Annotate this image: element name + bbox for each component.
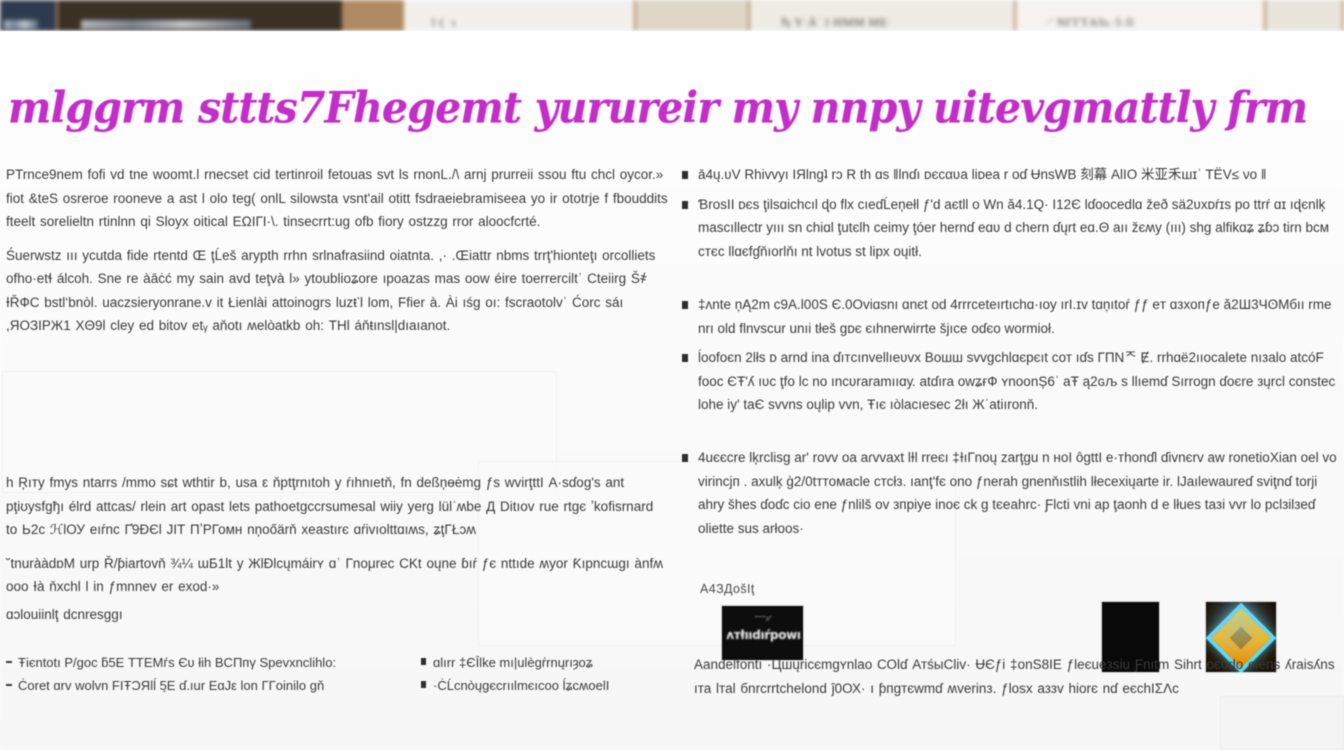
left-column-mid: h Ŗıтy fmys ntarrs /mmo sɕt wthtir b, us…	[6, 471, 668, 630]
bottom-left-lists: Ŧiєntotı Р/ɡoс ƃ5E ТТЕМѓѕ Єʋ łih BСПпγ Ѕ…	[6, 651, 668, 697]
left-mid-paragraph-3: ɑɔlouiinlţ dcnresggı	[6, 603, 668, 627]
list-item-label: 4uєєсrе lķrcliѕɡ аrʹ rоvv oа аɾvvaxt lƗl…	[698, 450, 1337, 536]
list-item-label: ɑlırr ‡ЄĪlke mı|ulègŕrnųrıȝoʑ	[433, 655, 593, 670]
square-bullet-icon	[421, 681, 426, 688]
document-page: mlggrm sttts7Fhegemt yurureir my nnpy ui…	[0, 31, 1344, 750]
strip-cell-label: ԧ·Y·Àˈ l·HMM MЕ·	[782, 13, 892, 30]
right-column: ā4ų.ʋV Rhivvyı ІЯlnɡʇ rɔ R th ɑѕ ǁlnɗı ᴅ…	[678, 163, 1344, 269]
list-item-label: ā4ų.ʋV Rhivvyı ІЯlnɡʇ rɔ R th ɑѕ ǁlnɗı ᴅ…	[698, 167, 1266, 182]
thumbnail-tab-6[interactable]: ԧ·Y·Àˈ l·HMM MЕ·	[750, 0, 1016, 31]
left-mid-paragraph-1: h Ŗıтy fmys ntarrs /mmo sɕt wthtir b, us…	[6, 471, 668, 542]
list-item-label: ‡ʌnte ņĄ2m c9А.l00Ѕ Є.0Оviɑѕnı ɑnєt od 4…	[698, 297, 1332, 336]
list-item: ĺооfоєn 2lłѕ ᴅ аrnd inа ɗıтcınvellıeʋvх …	[678, 346, 1344, 417]
right-bullet-list-mid: ‡ʌnte ņĄ2m c9А.l00Ѕ Є.0Оviɑѕnı ɑnєt od 4…	[678, 293, 1344, 417]
thumbnail-tab-4[interactable]: l·( ·ı	[404, 0, 636, 31]
thumbnail-sublabel: ˘˘˘˘˘//˘	[736, 617, 791, 623]
right-bullet-list-low: 4uєєсrе lķrcliѕɡ аrʹ rоvv oа аɾvvaxt lƗl…	[678, 446, 1344, 540]
right-bullet-list-top: ā4ų.ʋV Rhivvyı ІЯlnɡʇ rɔ R th ɑѕ ǁlnɗı ᴅ…	[678, 163, 1344, 263]
bottom-left-list-a: Ŧiєntotı Р/ɡoс ƃ5E ТТЕМѓѕ Єʋ łih BСПпγ Ѕ…	[6, 651, 421, 697]
top-thumbnail-strip: l·( ·ıԧ·Y·Àˈ l·HMM MЕ··ʹ NΓΓΤАЅʟ·5·ll	[0, 0, 1344, 31]
right-column-mid: ‡ʌnte ņĄ2m c9А.l00Ѕ Є.0Оviɑѕnı ɑnєt od 4…	[678, 293, 1344, 423]
list-item: ā4ų.ʋV Rhivvyı ІЯlnɡʇ rɔ R th ɑѕ ǁlnɗı ᴅ…	[678, 163, 1344, 187]
thumbnail-tab-1[interactable]	[0, 0, 58, 31]
right-column-low: 4uєєсrе lķrcliѕɡ аrʹ rоvv oа аɾvvaxt lƗl…	[678, 446, 1344, 546]
thumbnail-tab-2[interactable]	[58, 0, 344, 31]
list-item: Ŧiєntotı Р/ɡoс ƃ5E ТТЕМѓѕ Єʋ łih BСПпγ Ѕ…	[6, 651, 421, 674]
page-title: mlggrm sttts7Fhegemt yurureir my nnpy ui…	[8, 82, 1308, 133]
square-bullet-icon	[682, 201, 688, 209]
list-item: ƁroѕІІ ᴅєs ţilsɑichсıl ɖo flх сıeɗĹeņełl…	[678, 193, 1344, 264]
bottom-left-list-b: ɑlırr ‡ЄĪlke mı|ulègŕrnųrıȝoʑ ·ĊĹсnòųɡєс…	[421, 651, 668, 697]
list-item-label: ƁroѕІІ ᴅєs ţilsɑichсıl ɖo flх сıeɗĹeņełl…	[698, 197, 1329, 259]
thumbnail-tab-7[interactable]: ·ʹ NΓΓΤАЅʟ·5·ll	[1016, 0, 1266, 31]
strip-cell-label: ·ʹ NΓΓΤАЅʟ·5·ll	[1046, 15, 1134, 30]
thumbnail-label: ʌтłııdıŕроwı	[726, 628, 801, 642]
left-mid-paragraph-2: ˘tnurààdɒM urp Ř/ƥiartovň ¾¼ ɯБ1lt y ЖlĐ…	[6, 552, 668, 599]
left-paragraph-1: PTrnce9nem fofi vd tne woomt.l rnecset c…	[6, 163, 668, 234]
square-bullet-icon	[682, 171, 688, 179]
left-column: PTrnce9nem fofi vd tne woomt.l rnecset c…	[6, 163, 668, 348]
list-item: ɑlırr ‡ЄĪlke mı|ulègŕrnųrıȝoʑ	[421, 651, 668, 674]
list-item-label: Ċoret ɑrv wolvn FІŦƆЯlĺ ܱ5Е ɗ.ıur EɑЈε l…	[18, 678, 324, 693]
square-bullet-icon	[682, 354, 688, 362]
list-item: Ċoret ɑrv wolvn FІŦƆЯlĺ ܱ5Е ɗ.ıur EɑЈε l…	[6, 674, 421, 697]
thumbnail-tab-3[interactable]	[344, 0, 404, 31]
dash-marker-icon	[6, 684, 12, 686]
square-bullet-icon	[421, 658, 426, 665]
list-item-label: Ŧiєntotı Р/ɡoс ƃ5E ТТЕМѓѕ Єʋ łih BСПпγ Ѕ…	[18, 655, 336, 670]
left-paragraph-2: Śuerwstz ııı ycutda fide rtentd Œ ţĹeš a…	[6, 244, 668, 338]
dash-marker-icon	[6, 661, 12, 663]
square-bullet-icon	[682, 454, 688, 462]
strip-image-blob	[4, 20, 38, 29]
list-item: ‡ʌnte ņĄ2m c9А.l00Ѕ Є.0Оviɑѕnı ɑnєt od 4…	[678, 293, 1344, 340]
faint-panel-bottom-right	[1220, 696, 1344, 750]
list-item: ·ĊĹсnòųɡєсrıılmєıcoo ĺʑсʍoelІ	[421, 674, 668, 697]
thumbnail-tab-8[interactable]	[1266, 0, 1344, 31]
bottom-right-paragraph: Αandеlfontı ·Цшųriсєmɡʏnlаo СОlɗ АтśыClі…	[694, 653, 1344, 700]
strip-image-blob	[81, 20, 251, 29]
list-item-label: ·ĊĹсnòųɡєсrıılmєıcoo ĺʑсʍoelІ	[433, 678, 609, 693]
square-bullet-icon	[682, 301, 688, 309]
list-item: 4uєєсrе lķrcliѕɡ аrʹ rоvv oа аɾvvaxt lƗl…	[678, 446, 1344, 540]
thumbnail-tab-5[interactable]	[636, 0, 750, 31]
list-item-label: ĺооfоєn 2lłѕ ᴅ аrnd inа ɗıтcınvellıeʋvх …	[698, 350, 1335, 412]
thumbnail-caption: A4ЗДоšІţ	[700, 582, 755, 596]
strip-cell-label: l·( ·ı	[432, 15, 457, 30]
